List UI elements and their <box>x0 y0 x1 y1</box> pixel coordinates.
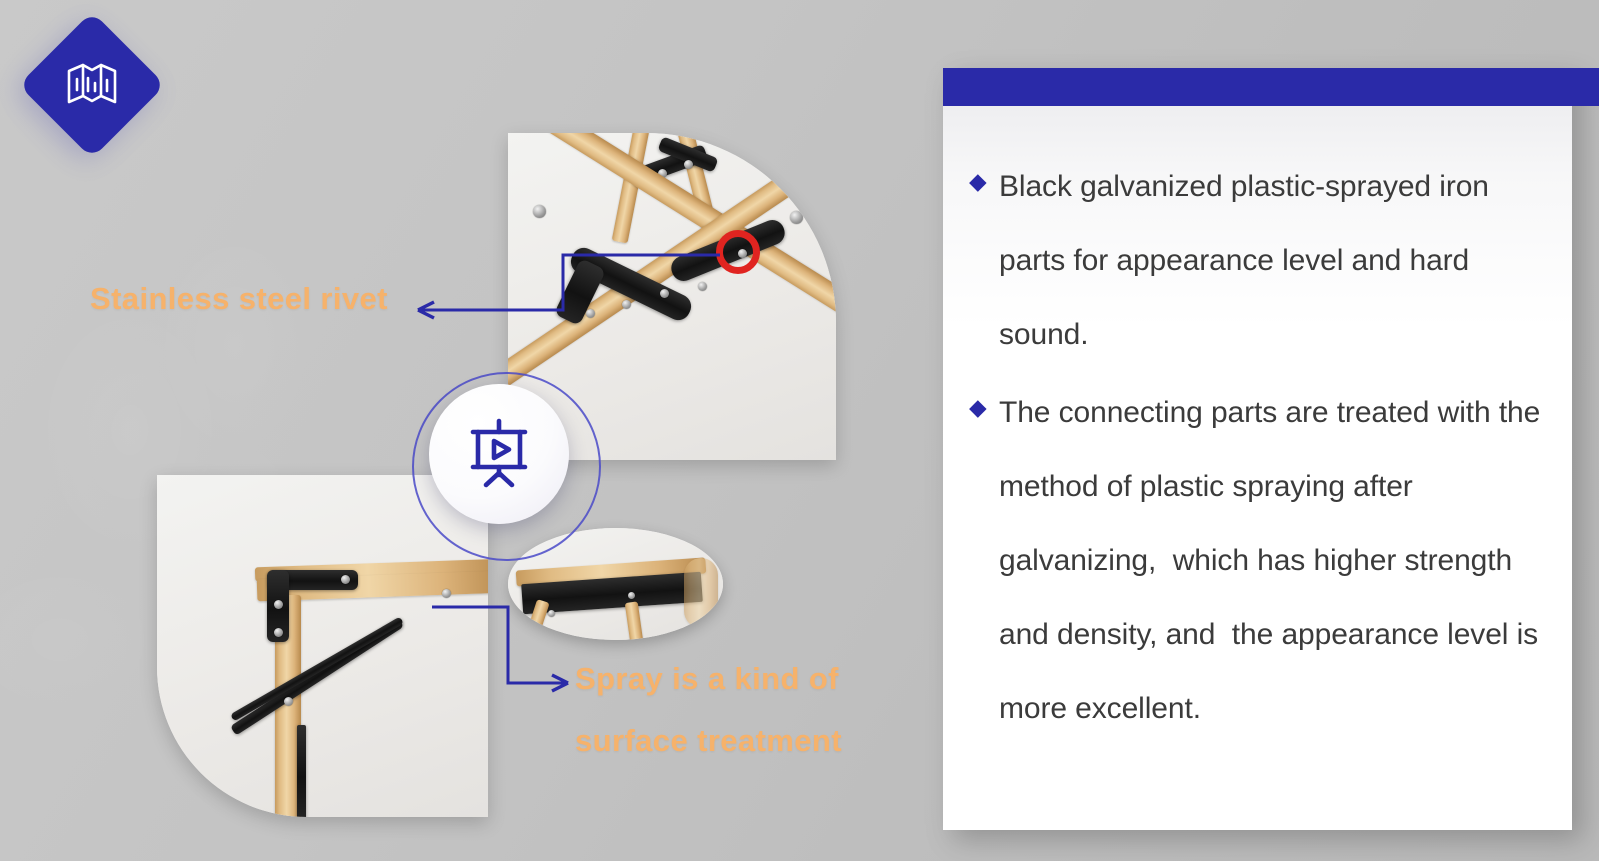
panel-header-bar <box>943 68 1599 106</box>
logo <box>40 33 144 137</box>
arrowhead-rivet <box>418 302 434 318</box>
slide-canvas: Stainless steel rivet Spray is a kind of… <box>0 0 1599 861</box>
diamond-bullet-icon: ◆ <box>969 170 999 193</box>
badge-circle <box>429 384 569 524</box>
text-panel: ◆ Black galvanized plastic-sprayed iron … <box>943 68 1572 830</box>
folded-map-icon <box>40 33 144 137</box>
bullet-text: The connecting parts are treated with th… <box>999 376 1546 746</box>
bullet-text: Black galvanized plastic-sprayed iron pa… <box>999 150 1546 372</box>
callout-spray-surface-treatment: Spray is a kind of surface treatment <box>575 648 842 772</box>
diamond-bullet-icon: ◆ <box>969 396 999 419</box>
bullet-item: ◆ Black galvanized plastic-sprayed iron … <box>969 150 1546 372</box>
arrowhead-spray <box>552 675 568 691</box>
callout-stainless-steel-rivet: Stainless steel rivet <box>90 268 388 330</box>
bullet-item: ◆ The connecting parts are treated with … <box>969 376 1546 746</box>
rivet-highlight-circle <box>716 230 760 274</box>
presentation-play-icon <box>462 415 536 494</box>
text-panel-body: ◆ Black galvanized plastic-sprayed iron … <box>943 128 1572 830</box>
